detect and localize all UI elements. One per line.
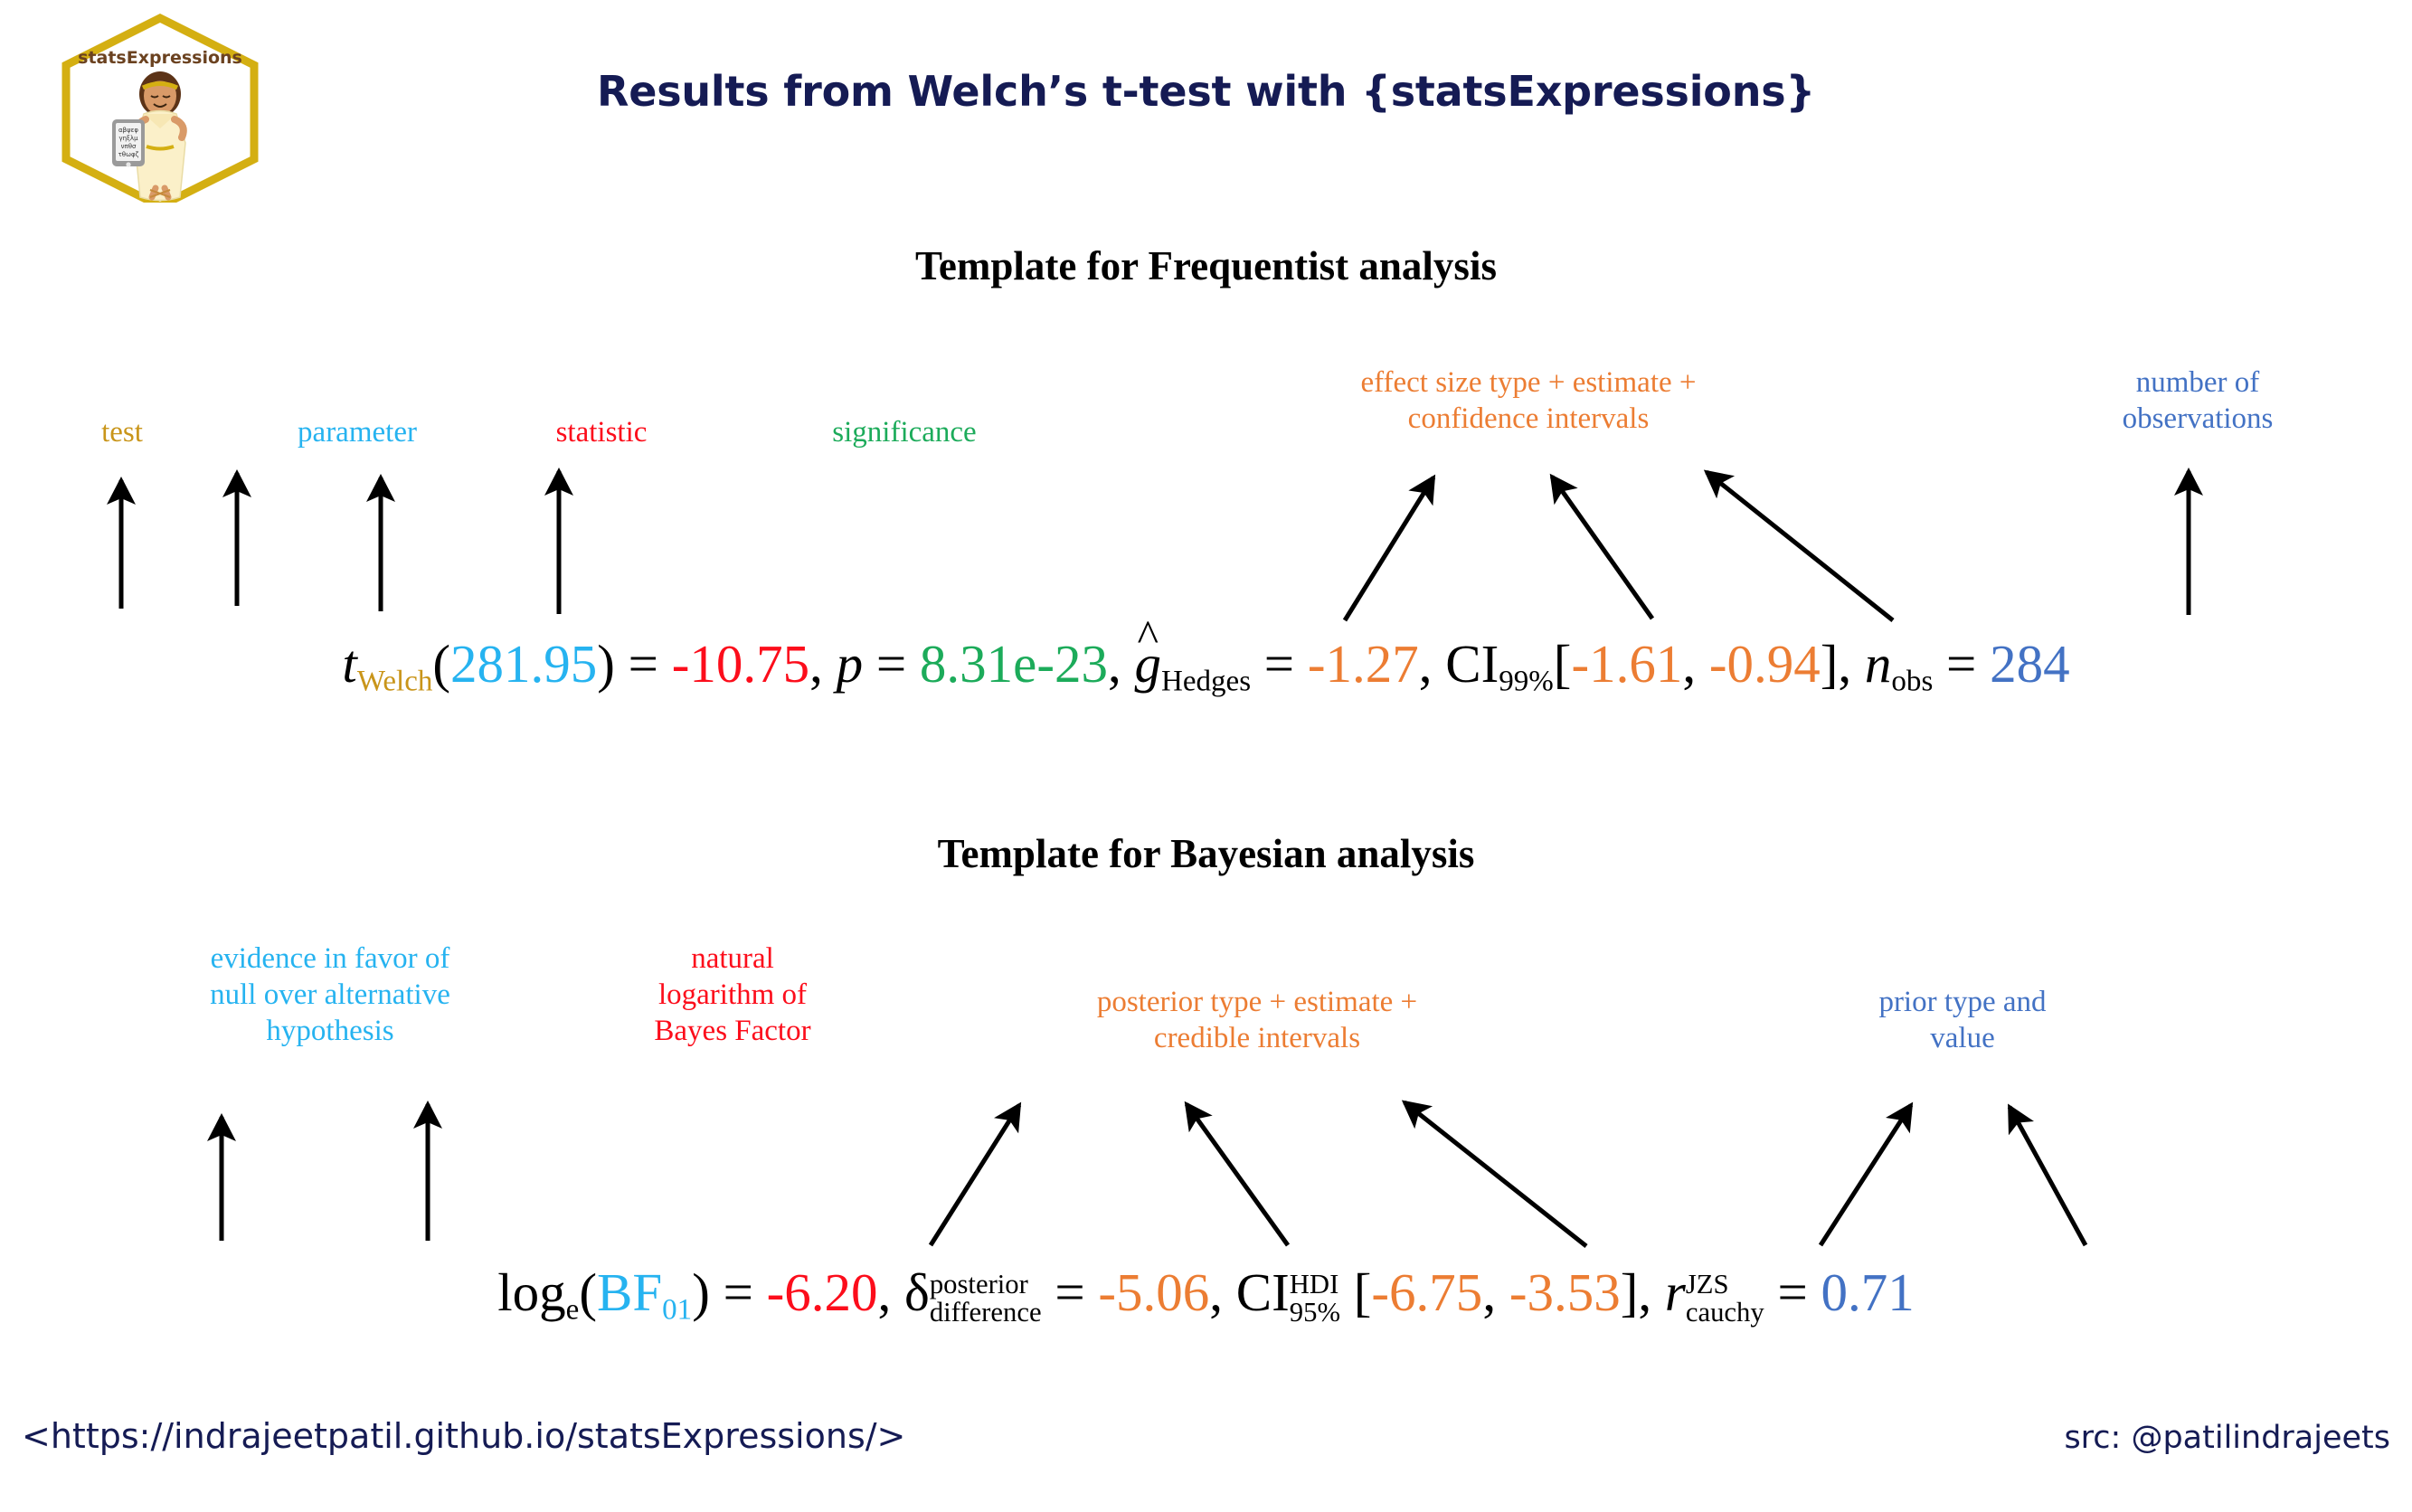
arrow-prior-type — [1821, 1105, 1911, 1245]
beq-r-affixes: JZScauchy — [1686, 1271, 1764, 1328]
eq-n-value: 284 — [1990, 634, 2070, 694]
bayesian-equation: loge(BF01) = -6.20, δposteriordifference… — [0, 1262, 2412, 1327]
eq-statistic-value: -10.75 — [672, 634, 809, 694]
eq-n-subscript: obs — [1891, 665, 1933, 697]
beq-ci-high: -3.53 — [1509, 1262, 1621, 1322]
logo-brand-text: statsExpressions — [78, 48, 242, 68]
arrow-prior-value — [2010, 1107, 2086, 1245]
svg-text:τθωφζ: τθωφζ — [118, 151, 139, 158]
beq-r-sup: JZS — [1686, 1271, 1764, 1299]
label-log-bayes-factor: natural logarithm of Bayes Factor — [570, 940, 895, 1049]
beq-delta-value: -5.06 — [1098, 1262, 1209, 1322]
eq-ci-low: -1.61 — [1571, 634, 1682, 694]
arrow-effect-ci — [1707, 472, 1893, 620]
beq-paren-open: ( — [579, 1262, 597, 1322]
svg-text:νπθσ: νπθσ — [121, 143, 137, 150]
label-prior: prior type and value — [1764, 984, 2161, 1056]
beq-ci-sub: 95% — [1290, 1299, 1340, 1327]
beq-comma-1: , — [878, 1262, 905, 1322]
eq-ci-sep: , — [1682, 634, 1709, 694]
beq-bf-symbol: BF — [597, 1262, 662, 1322]
arrow-posterior-type — [1187, 1104, 1288, 1245]
beq-delta-symbol: δ — [904, 1262, 930, 1322]
eq-comma-1: , — [809, 634, 837, 694]
eq-comma-3: , — [1419, 634, 1446, 694]
label-effect-size: effect size type + estimate + confidence… — [1248, 364, 1809, 437]
eq-paren-open: ( — [432, 634, 450, 694]
label-parameter: parameter — [240, 414, 475, 450]
beq-bf-value: -6.20 — [767, 1262, 878, 1322]
beq-ci-sup: HDI — [1290, 1271, 1340, 1299]
page-title: Results from Welch’s t-test with {statsE… — [0, 67, 2412, 116]
label-posterior: posterior type + estimate + credible int… — [950, 984, 1565, 1056]
beq-log-base: e — [566, 1293, 580, 1326]
beq-ci-sep: , — [1482, 1262, 1509, 1322]
footer-url[interactable]: <https://indrajeetpatil.github.io/statsE… — [22, 1416, 905, 1456]
eq-effect-subscript: Hedges — [1161, 665, 1251, 697]
beq-log-symbol: log — [497, 1262, 565, 1322]
beq-comma-2: , — [1209, 1262, 1236, 1322]
eq-effect-symbol: g — [1134, 633, 1161, 695]
eq-comma-2: , — [1108, 634, 1135, 694]
label-significance: significance — [751, 414, 1058, 450]
eq-bracket-open: [ — [1554, 634, 1572, 694]
arrow-effect-type — [1552, 477, 1652, 619]
beq-delta-sub: difference — [930, 1299, 1042, 1327]
eq-ci-level: 99% — [1499, 665, 1554, 697]
beq-r-value: 0.71 — [1821, 1262, 1914, 1322]
beq-ci-low: -6.75 — [1371, 1262, 1482, 1322]
frequentist-section-heading: Template for Frequentist analysis — [0, 242, 2412, 289]
label-observations: number of observations — [2017, 364, 2379, 437]
eq-bracket-close: ], — [1821, 634, 1865, 694]
beq-delta-sup: posterior — [930, 1271, 1042, 1299]
eq-ci-high: -0.94 — [1709, 634, 1821, 694]
label-evidence: evidence in favor of null over alternati… — [109, 940, 552, 1049]
beq-delta-affixes: posteriordifference — [930, 1271, 1042, 1328]
beq-paren-close: ) = — [692, 1262, 766, 1322]
eq-parameter-value: 281.95 — [450, 634, 597, 694]
beq-r-symbol: r — [1665, 1262, 1686, 1322]
eq-p-symbol: p — [837, 634, 864, 694]
eq-n-symbol: n — [1865, 634, 1892, 694]
arrow-posterior-ci — [1405, 1102, 1586, 1246]
beq-bracket-open: [ — [1340, 1262, 1371, 1322]
beq-equals-2: = — [1042, 1262, 1099, 1322]
beq-bracket-close: ], — [1621, 1262, 1665, 1322]
arrow-effect-estimate — [1345, 477, 1433, 620]
svg-text:γηξλμ: γηξλμ — [118, 135, 138, 142]
label-statistic: statistic — [488, 414, 714, 450]
beq-ci-label: CI — [1236, 1262, 1290, 1322]
eq-paren-close: ) = — [597, 634, 671, 694]
eq-effect-value: -1.27 — [1308, 634, 1419, 694]
beq-bf-subscript: 01 — [662, 1293, 692, 1326]
arrow-posterior-estimate — [931, 1105, 1019, 1245]
beq-ci-affixes: HDI95% — [1290, 1271, 1340, 1328]
beq-r-sub: cauchy — [1686, 1299, 1764, 1327]
footer-source: src: @patilindrajeets — [2064, 1420, 2390, 1456]
svg-text:αβψεφ: αβψεφ — [118, 127, 138, 134]
frequentist-equation: tWelch(281.95) = -10.75, p = 8.31e-23, g… — [0, 633, 2412, 698]
label-test: test — [54, 414, 190, 450]
eq-equals-4: = — [1933, 634, 1990, 694]
eq-test-subscript: Welch — [357, 665, 433, 697]
eq-p-value: 8.31e-23 — [920, 634, 1108, 694]
beq-equals-3: = — [1764, 1262, 1821, 1322]
eq-ci-label: CI — [1445, 634, 1499, 694]
bayesian-section-heading: Template for Bayesian analysis — [0, 830, 2412, 877]
eq-equals-2: = — [863, 634, 920, 694]
eq-test-symbol: t — [342, 634, 356, 694]
tablet-icon: αβψεφ γηξλμ νπθσ τθωφζ — [112, 119, 145, 167]
eq-equals-3: = — [1251, 634, 1308, 694]
